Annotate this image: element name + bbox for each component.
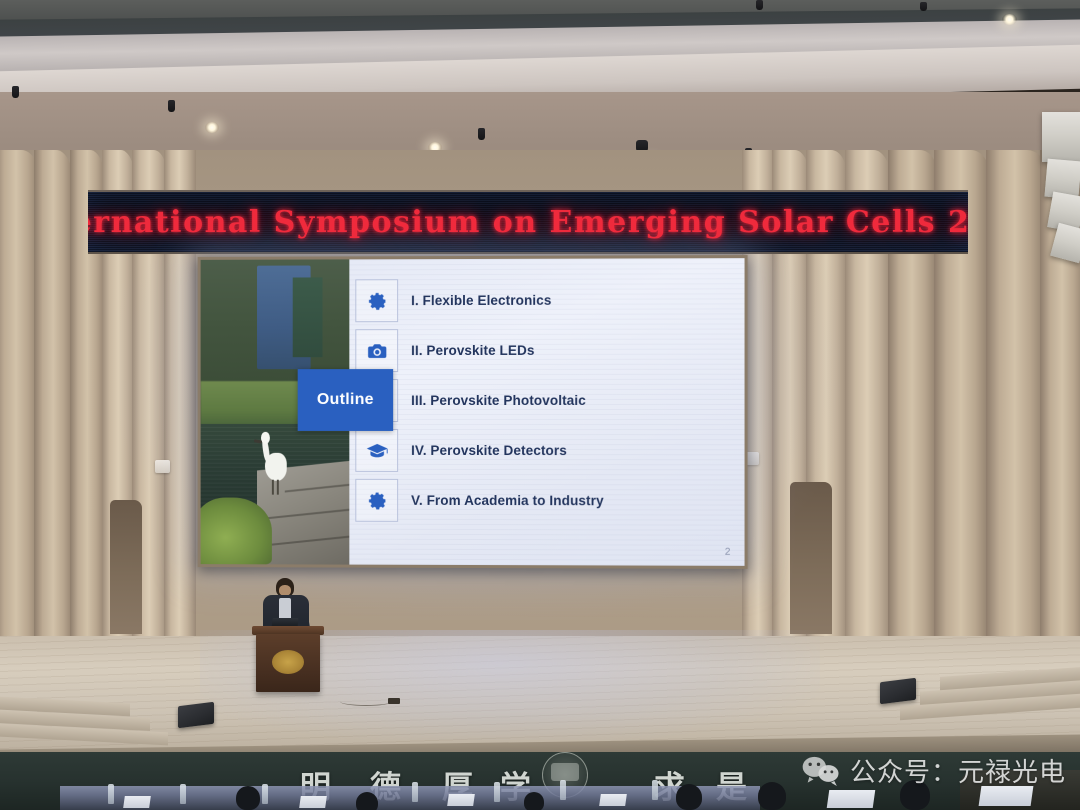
projection-screen: I. Flexible Electronics II. Perovskite L… (198, 255, 748, 569)
egret-leg (277, 480, 279, 495)
ceiling-downlight (205, 122, 219, 133)
graduation-cap-icon (355, 429, 398, 472)
audience-head (758, 782, 786, 810)
water-bottle (652, 780, 658, 800)
water-bottle (560, 780, 566, 800)
water-bottle (412, 782, 418, 802)
water-bottle (262, 784, 268, 804)
water-bottle (494, 782, 500, 802)
podium-crest-emblem (272, 650, 304, 674)
egret-head (261, 432, 269, 444)
place-name-card (827, 790, 876, 808)
university-seal-inner (551, 763, 579, 781)
led-banner-text: International Symposium on Emerging Sola… (88, 205, 968, 240)
outline-item-3: III. Perovskite Photovoltaic (355, 379, 734, 422)
photo-step-line (285, 484, 350, 493)
stage-floor-cable (340, 697, 392, 706)
stage-doorway-right (790, 482, 832, 634)
led-banner: International Symposium on Emerging Sola… (88, 190, 968, 254)
place-name-card (599, 794, 627, 806)
outline-badge-label: Outline (317, 391, 374, 409)
ceiling-spotlight (478, 128, 485, 140)
wechat-icon (801, 755, 841, 787)
camera-icon (355, 329, 398, 372)
auditorium-stage-photo: International Symposium on Emerging Sola… (0, 0, 1080, 810)
podium-with-speaker (246, 578, 330, 696)
floor-monitor-speaker (880, 678, 916, 704)
stage-floor-connector (388, 698, 400, 704)
photo-dark-structure (293, 278, 323, 357)
outline-item-4: IV. Perovskite Detectors (355, 429, 734, 472)
audience-head (676, 784, 702, 810)
watermark-text: 公众号：元禄光电 (850, 752, 1066, 789)
acoustic-wood-panel (34, 150, 74, 666)
ceiling-downlight (1002, 14, 1017, 25)
outline-item-label: IV. Perovskite Detectors (411, 443, 567, 458)
place-name-card (979, 786, 1034, 806)
stage-doorway-left (110, 500, 142, 634)
water-bottle (180, 784, 186, 804)
slide-content-area: I. Flexible Electronics II. Perovskite L… (349, 258, 744, 566)
audience-head (524, 792, 544, 810)
water-bottle (108, 784, 114, 804)
audience-head (356, 792, 378, 810)
outline-list: I. Flexible Electronics II. Perovskite L… (355, 278, 734, 522)
ceiling-spotlight (12, 86, 19, 98)
outline-item-label: V. From Academia to Industry (411, 493, 604, 508)
floor-monitor-speaker (178, 702, 214, 728)
ceiling-spotlight (168, 100, 175, 112)
gear-icon (355, 479, 398, 522)
ceiling-spotlight (756, 0, 763, 10)
acoustic-wood-panel (986, 150, 1046, 670)
place-name-card (447, 794, 475, 806)
outline-item-2: II. Perovskite LEDs (355, 329, 734, 373)
outline-badge: Outline (298, 369, 393, 431)
speaker-shirt (279, 598, 291, 620)
place-name-card (299, 796, 327, 808)
photo-shrub (201, 497, 272, 564)
slide-page-number: 2 (725, 547, 731, 558)
outline-item-5: V. From Academia to Industry (355, 479, 734, 523)
outline-item-label: I. Flexible Electronics (411, 293, 551, 308)
gear-icon (355, 279, 398, 322)
outline-item-1: I. Flexible Electronics (355, 278, 734, 322)
photo-egret-bird (260, 433, 290, 494)
outline-item-label: II. Perovskite LEDs (411, 343, 534, 358)
outline-item-label: III. Perovskite Photovoltaic (411, 393, 586, 408)
ceiling-spotlight (920, 2, 927, 11)
place-name-card (123, 796, 151, 808)
wall-control-panel[interactable] (155, 460, 170, 473)
watermark: 公众号：元禄光电 (801, 752, 1066, 789)
egret-leg (272, 480, 274, 495)
audience-head (236, 786, 260, 810)
presentation-slide: I. Flexible Electronics II. Perovskite L… (201, 258, 745, 566)
photo-step-line (268, 509, 349, 519)
line-array-speaker-top (1042, 112, 1080, 162)
